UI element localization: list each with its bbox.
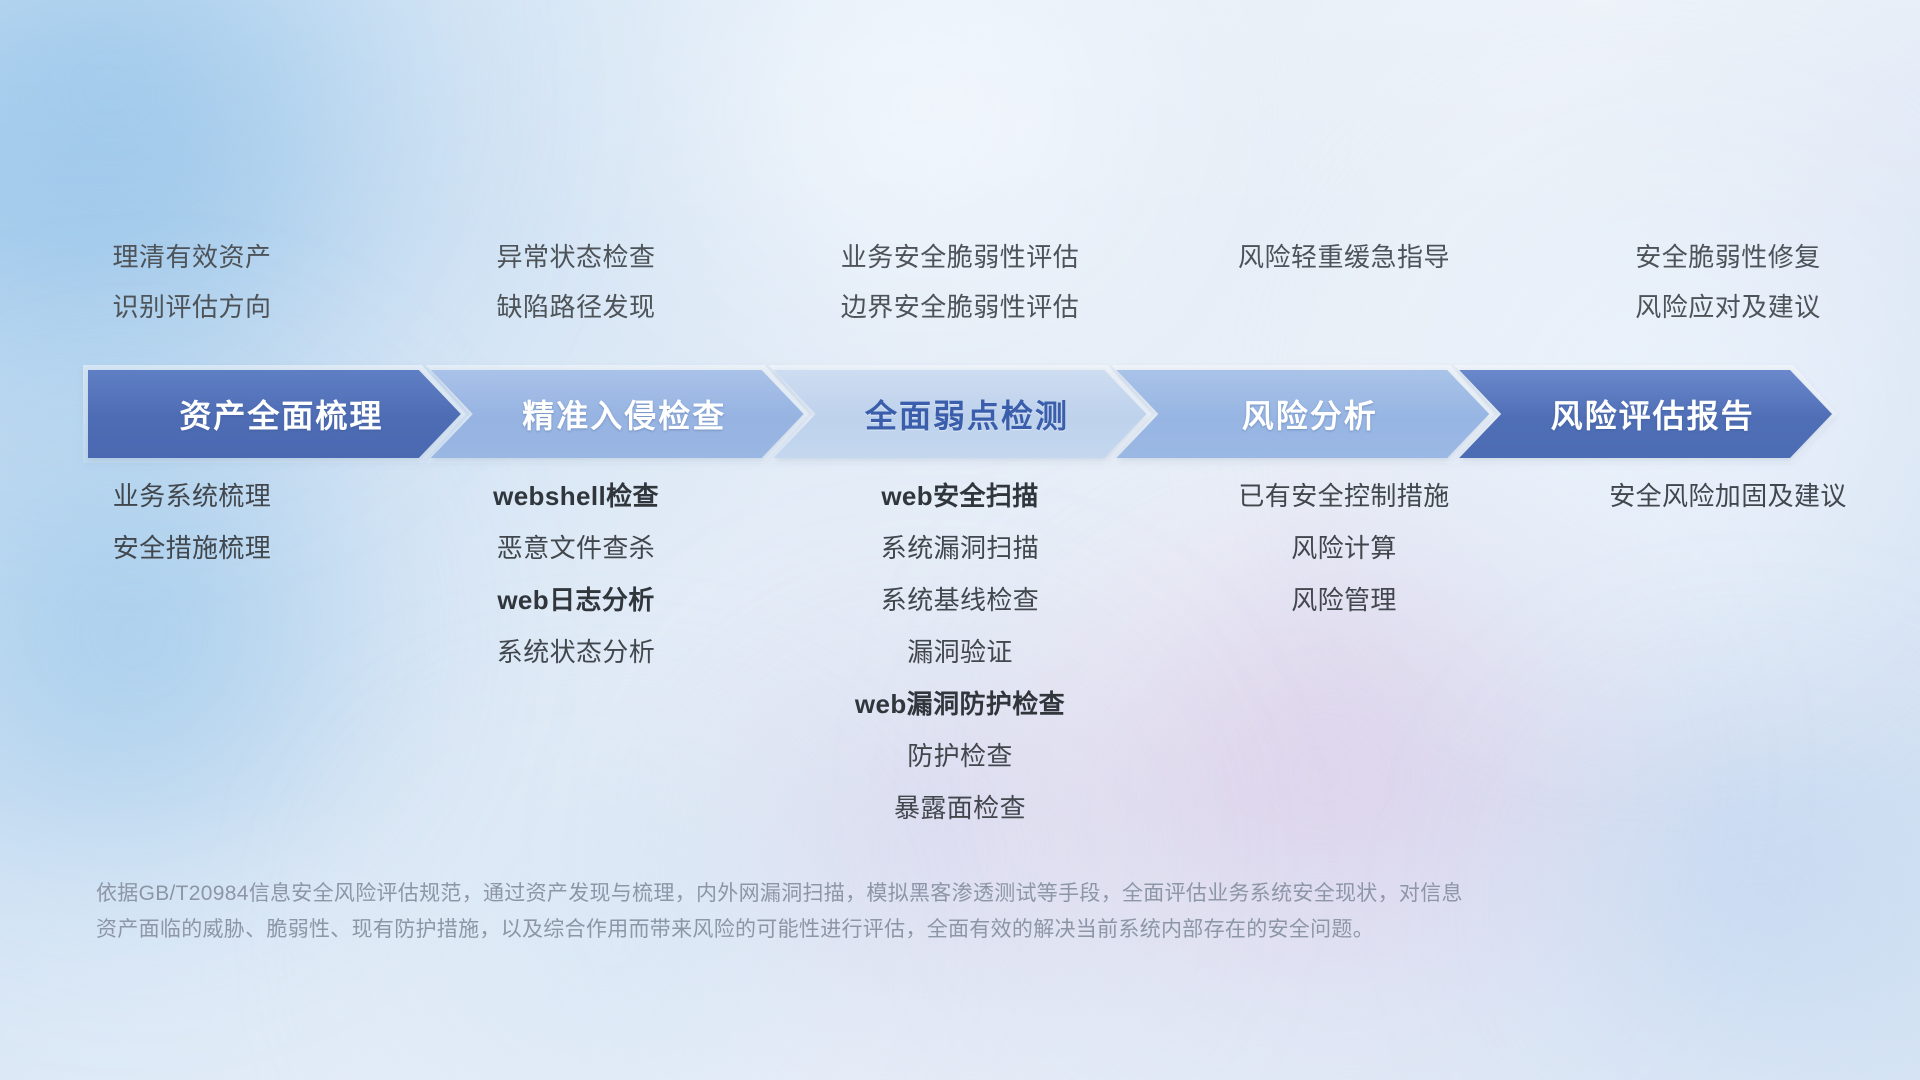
top-notes-asset-inventory: 理清有效资产 识别评估方向 [0,232,384,332]
stage-label: 精准入侵检查 [508,391,726,437]
top-notes-intrusion-check: 异常状态检查 缺陷路径发现 [384,232,768,332]
list-item: 防护检查 [907,730,1013,782]
list-item: web日志分析 [497,574,654,626]
list-item: 恶意文件查杀 [497,522,655,574]
items-weakness-detection: web安全扫描 系统漏洞扫描 系统基线检查 漏洞验证 web漏洞防护检查 防护检… [768,470,1152,834]
stage-chevron-intrusion-check[interactable]: 精准入侵检查 [431,370,804,458]
list-item: webshell检查 [493,470,659,522]
items-risk-report: 安全风险加固及建议 [1536,470,1920,834]
items-asset-inventory: 业务系统梳理 安全措施梳理 [0,470,384,834]
list-item: 系统基线检查 [881,574,1039,626]
top-note: 风险应对及建议 [1635,282,1821,332]
list-item: 漏洞验证 [907,626,1013,678]
list-item: 已有安全控制措施 [1238,470,1449,522]
stage-items-row: 业务系统梳理 安全措施梳理 webshell检查 恶意文件查杀 web日志分析 … [0,470,1920,834]
top-notes-risk-analysis: 风险轻重缓急指导 [1152,232,1536,332]
process-chevron-band: 资产全面梳理 精准入侵检查 全面弱点检测 风险分析 风险评估报告 [88,370,1832,458]
stage-chevron-weakness-detection[interactable]: 全面弱点检测 [774,370,1147,458]
items-risk-analysis: 已有安全控制措施 风险计算 风险管理 [1152,470,1536,834]
stage-label: 全面弱点检测 [851,391,1069,437]
top-note: 安全脆弱性修复 [1635,232,1821,282]
list-item: 安全措施梳理 [113,522,271,574]
top-note: 理清有效资产 [112,232,271,282]
top-note: 异常状态检查 [496,232,655,282]
top-note: 边界安全脆弱性评估 [841,282,1080,332]
top-notes-risk-report: 安全脆弱性修复 风险应对及建议 [1536,232,1920,332]
footer-description: 依据GB/T20984信息安全风险评估规范，通过资产发现与梳理，内外网漏洞扫描，… [96,876,1656,948]
list-item: 风险管理 [1291,574,1397,626]
stage-label: 风险分析 [1228,391,1378,437]
list-item: 系统漏洞扫描 [881,522,1039,574]
stage-chevron-risk-analysis[interactable]: 风险分析 [1116,370,1489,458]
top-notes-weakness-detection: 业务安全脆弱性评估 边界安全脆弱性评估 [768,232,1152,332]
list-item: 业务系统梳理 [113,470,271,522]
list-item: 风险计算 [1291,522,1397,574]
list-item: web漏洞防护检查 [855,678,1065,730]
list-item: 安全风险加固及建议 [1609,470,1847,522]
top-note: 风险轻重缓急指导 [1238,232,1450,282]
footer-line-2: 资产面临的威胁、脆弱性、现有防护措施，以及综合作用而带来风险的可能性进行评估，全… [96,912,1656,948]
list-item: web安全扫描 [881,470,1038,522]
stage-chevron-risk-report[interactable]: 风险评估报告 [1459,370,1832,458]
top-note: 缺陷路径发现 [496,282,655,332]
list-item: 系统状态分析 [497,626,655,678]
stage-chevron-asset-inventory[interactable]: 资产全面梳理 [88,370,461,458]
items-intrusion-check: webshell检查 恶意文件查杀 web日志分析 系统状态分析 [384,470,768,834]
stage-label: 资产全面梳理 [165,391,383,437]
diagram-canvas: 理清有效资产 识别评估方向 异常状态检查 缺陷路径发现 业务安全脆弱性评估 边界… [0,0,1920,1080]
top-note: 业务安全脆弱性评估 [841,232,1080,282]
stage-label: 风险评估报告 [1537,391,1755,437]
top-notes-row: 理清有效资产 识别评估方向 异常状态检查 缺陷路径发现 业务安全脆弱性评估 边界… [0,232,1920,332]
list-item: 暴露面检查 [894,782,1026,834]
top-note: 识别评估方向 [112,282,271,332]
footer-line-1: 依据GB/T20984信息安全风险评估规范，通过资产发现与梳理，内外网漏洞扫描，… [96,876,1656,912]
